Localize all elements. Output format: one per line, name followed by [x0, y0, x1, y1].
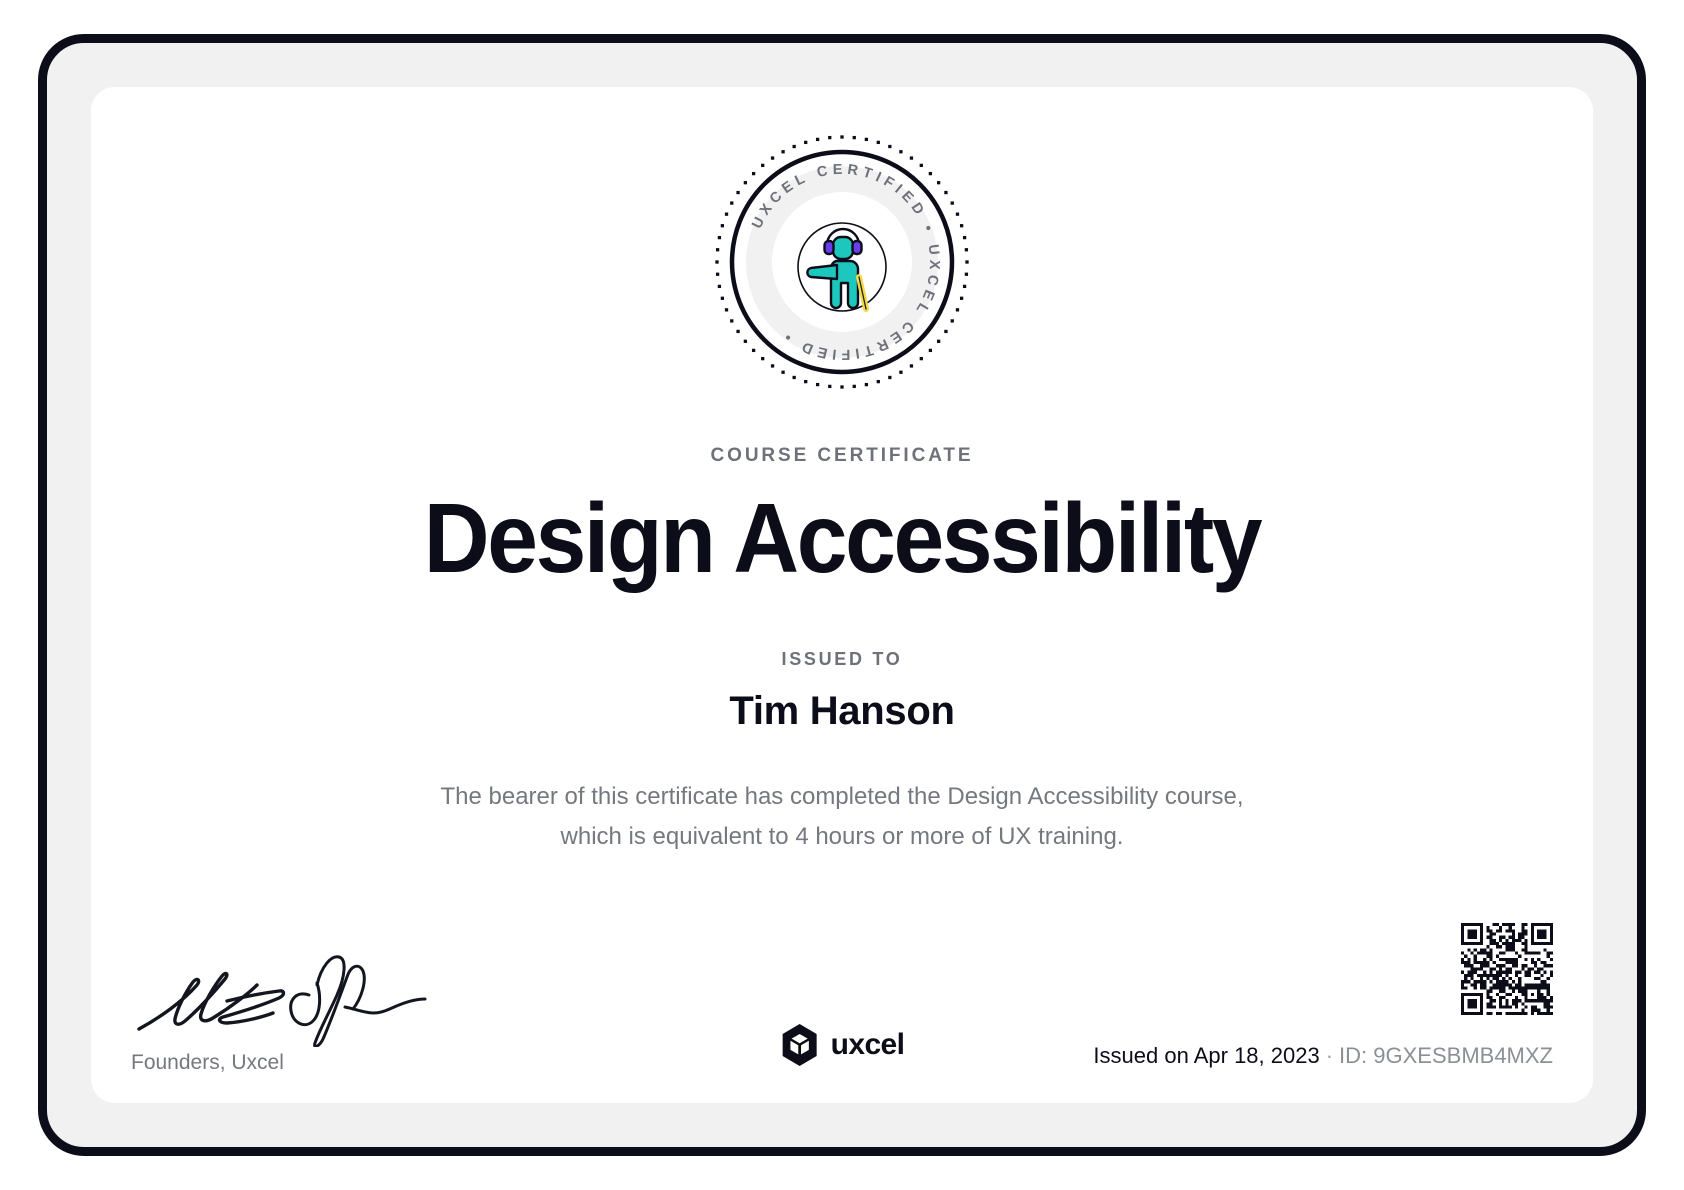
certificate-frame: UXCEL CERTIFIED • UXCEL CERTIFIED • — [38, 34, 1646, 1156]
recipient-name: Tim Hanson — [91, 689, 1593, 734]
certificate-qr-code[interactable] — [1461, 923, 1553, 1015]
uxcel-wordmark: uxcel — [831, 1028, 905, 1062]
issue-info: Issued on Apr 18, 2023·ID: 9GXESBMB4MXZ — [1093, 1043, 1553, 1069]
certificate-id: ID: 9GXESBMB4MXZ — [1339, 1043, 1553, 1068]
course-certificate-label: COURSE CERTIFICATE — [91, 445, 1593, 467]
certificate-description: The bearer of this certificate has compl… — [91, 777, 1593, 857]
founders-label: Founders, Uxcel — [131, 1051, 551, 1075]
founder-signatures — [131, 951, 431, 1047]
issue-info-separator: · — [1326, 1043, 1333, 1068]
uxcel-hexagon-cube-icon — [780, 1023, 820, 1067]
signature-one — [139, 973, 284, 1029]
uxcel-certified-badge: UXCEL CERTIFIED • UXCEL CERTIFIED • — [707, 127, 977, 397]
certificate-card: UXCEL CERTIFIED • UXCEL CERTIFIED • — [91, 87, 1593, 1103]
description-line-1: The bearer of this certificate has compl… — [91, 777, 1593, 817]
signature-two — [291, 957, 425, 1047]
signature-block: Founders, Uxcel — [131, 951, 551, 1075]
issued-to-label: ISSUED TO — [91, 649, 1593, 670]
description-line-2: which is equivalent to 4 hours or more o… — [91, 817, 1593, 857]
uxcel-brand-logo: uxcel — [780, 1023, 905, 1067]
issued-on-date: Issued on Apr 18, 2023 — [1093, 1043, 1319, 1068]
page-title: Design Accessibility — [144, 487, 1541, 590]
